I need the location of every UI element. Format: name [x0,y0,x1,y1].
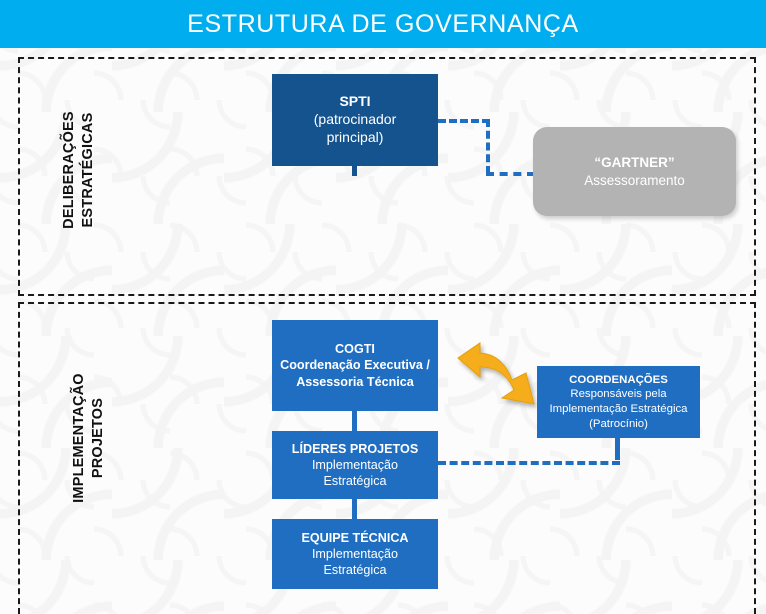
box-gartner[interactable]: “GARTNER” Assessoramento [533,127,736,216]
connector-spti-to-gartner-segment-h2 [486,172,535,176]
box-spti-line3: principal) [327,129,384,147]
box-cogti[interactable]: COGTI Coordenação Executiva / Assessoria… [272,320,438,411]
box-spti[interactable]: SPTI (patrocinador principal) [272,74,438,166]
connector-spti-downward-stub [352,166,357,176]
box-cogti-line2: Coordenação Executiva / [280,357,430,373]
connector-lideres-to-coordenacoes [438,461,620,465]
section-label-line1: IMPLEMENTAÇÃO [70,323,89,553]
box-spti-title: SPTI [339,93,370,111]
box-gartner-title: “GARTNER” [594,154,674,171]
bidirectional-arrow-icon [452,340,548,412]
page-title: ESTRUTURA DE GOVERNANÇA [0,0,766,48]
box-coordenacoes-line2: Responsáveis pela [570,387,666,402]
connector-spti-to-gartner-segment-h1 [438,119,490,123]
governance-structure-diagram: ESTRUTURA DE GOVERNANÇA DELIBERAÇÕES EST… [0,0,766,614]
box-cogti-title: COGTI [335,341,375,357]
box-coordenacoes-line4: (Patrocínio) [589,417,648,432]
box-coordenacoes-title: COORDENAÇÕES [569,373,668,388]
box-lideres-line2: Implementação [312,457,398,473]
box-cogti-line3: Assessoria Técnica [296,374,414,390]
section-label-deliberacoes-estrategicas: DELIBERAÇÕES ESTRATÉGICAS [60,60,100,280]
box-gartner-line2: Assessoramento [584,172,685,189]
box-equipe-line3: Estratégica [324,562,387,578]
connector-cogti-to-lideres [352,411,357,431]
box-equipe-title: EQUIPE TÉCNICA [301,530,408,546]
section-label-line1: DELIBERAÇÕES [60,60,79,280]
box-lideres-projetos[interactable]: LÍDERES PROJETOS Implementação Estratégi… [272,431,438,499]
box-spti-line2: (patrocinador [314,111,397,129]
box-lideres-title: LÍDERES PROJETOS [292,441,418,457]
section-label-implementacao-projetos: IMPLEMENTAÇÃO PROJETOS [70,323,110,553]
box-coordenacoes[interactable]: COORDENAÇÕES Responsáveis pela Implement… [537,366,700,438]
connector-lideres-to-equipe [352,499,357,519]
box-lideres-line3: Estratégica [324,473,387,489]
box-equipe-tecnica[interactable]: EQUIPE TÉCNICA Implementação Estratégica [272,519,438,589]
box-equipe-line2: Implementação [312,546,398,562]
box-coordenacoes-line3: Implementação Estratégica [549,402,687,417]
connector-coordenacoes-downward-stub [615,438,620,460]
connector-spti-to-gartner-segment-v [486,119,490,174]
section-label-line2: PROJETOS [89,323,108,553]
section-label-line2: ESTRATÉGICAS [79,60,98,280]
